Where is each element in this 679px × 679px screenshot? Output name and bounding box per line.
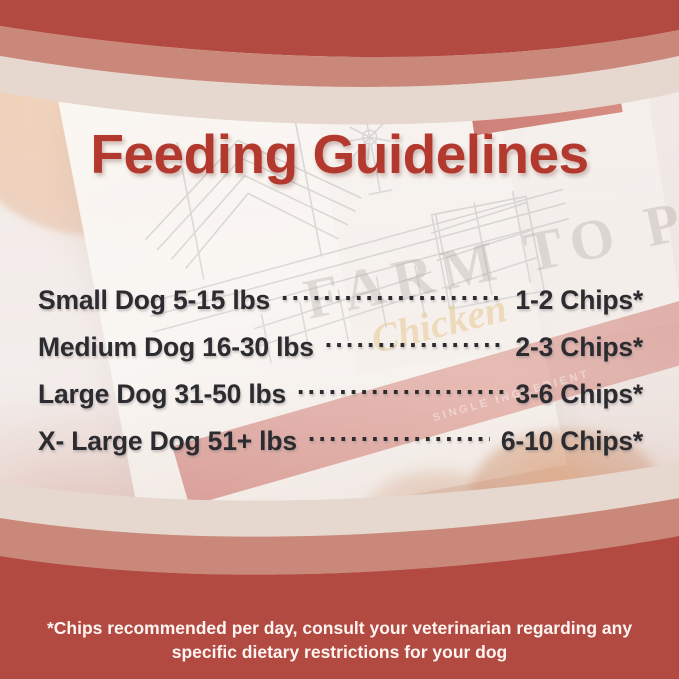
feeding-guidelines-list: Small Dog 5-15 lbs 1-2 Chips* Medium Dog… xyxy=(38,282,643,470)
guideline-row-value: 2-3 Chips* xyxy=(515,332,643,363)
feeding-guidelines-infographic: NEW Value Bag NEW SINGLE INGREDIENT FARM… xyxy=(0,0,679,679)
guideline-row-label: Large Dog 31-50 lbs xyxy=(38,379,286,410)
dot-leader xyxy=(325,329,505,356)
guideline-row: X- Large Dog 51+ lbs 6-10 Chips* xyxy=(38,423,643,470)
guideline-row-label: Medium Dog 16-30 lbs xyxy=(38,332,314,363)
guideline-row-label: X- Large Dog 51+ lbs xyxy=(38,426,297,457)
dot-leader xyxy=(297,376,504,403)
guideline-row-value: 3-6 Chips* xyxy=(515,379,643,410)
content-layer: Feeding Guidelines Small Dog 5-15 lbs 1-… xyxy=(0,0,679,679)
guideline-row: Small Dog 5-15 lbs 1-2 Chips* xyxy=(38,282,643,329)
guideline-row-value: 6-10 Chips* xyxy=(501,426,643,457)
footer-band: *Chips recommended per day, consult your… xyxy=(0,603,679,679)
footer-disclaimer: *Chips recommended per day, consult your… xyxy=(30,617,650,664)
guideline-row-label: Small Dog 5-15 lbs xyxy=(38,285,270,316)
dot-leader xyxy=(308,423,490,450)
page-title: Feeding Guidelines xyxy=(0,122,679,186)
guideline-row: Large Dog 31-50 lbs 3-6 Chips* xyxy=(38,376,643,423)
dot-leader xyxy=(281,282,504,309)
guideline-row-value: 1-2 Chips* xyxy=(515,285,643,316)
guideline-row: Medium Dog 16-30 lbs 2-3 Chips* xyxy=(38,329,643,376)
